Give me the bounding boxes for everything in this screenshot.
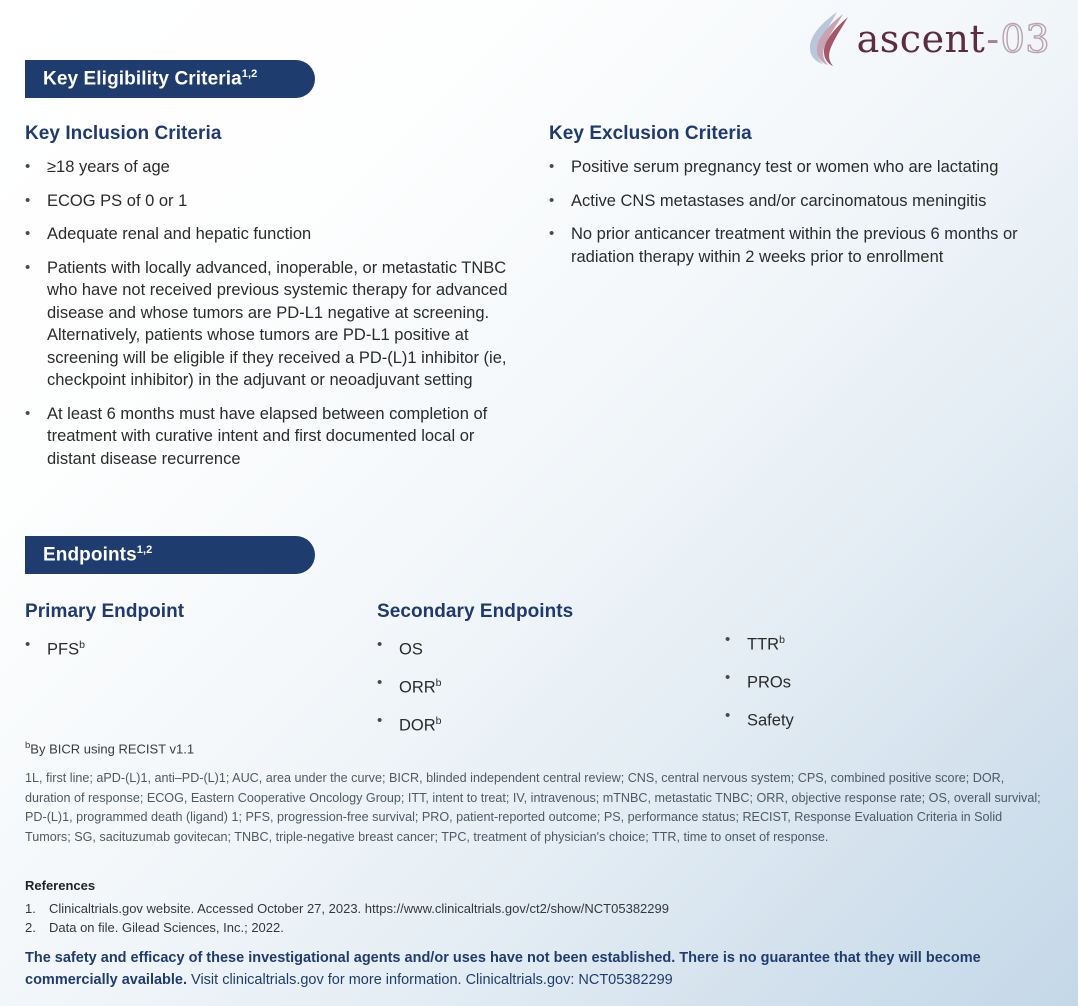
inclusion-heading: Key Inclusion Criteria [25,123,525,145]
list-item: •Patients with locally advanced, inopera… [25,257,525,392]
list-item: •At least 6 months must have elapsed bet… [25,403,525,471]
list-item-text: ≥18 years of age [47,156,525,179]
primary-endpoint-heading: Primary Endpoint [25,601,355,623]
list-item-text: Safety [747,705,1025,732]
exclusion-heading: Key Exclusion Criteria [549,123,1049,145]
bullet-dot-icon: • [377,672,399,699]
bullet-dot-icon: • [725,629,747,656]
bullet-dot-icon: • [25,257,47,392]
bullet-dot-icon: • [25,403,47,471]
list-item-text: OS [399,634,707,661]
bullet-dot-icon: • [377,634,399,661]
primary-endpoint-list: •PFSb [25,634,355,661]
list-item-text: TTRb [747,629,1025,656]
footnote-marker: b [79,639,85,651]
list-item-text: At least 6 months must have elapsed betw… [47,403,525,471]
section-banner-eligibility: Key Eligibility Criteria1,2 [25,60,315,98]
list-item: •DORb [377,710,707,737]
disclaimer-normal: Visit clinicaltrials.gov for more inform… [187,972,673,988]
list-item: •Adequate renal and hepatic function [25,223,525,246]
logo-word: ascent [857,17,986,61]
primary-endpoint-column: Primary Endpoint •PFSb [25,601,355,661]
list-item-text: ECOG PS of 0 or 1 [47,190,525,213]
list-item-text: Active CNS metastases and/or carcinomato… [571,190,1049,213]
bullet-dot-icon: • [725,705,747,732]
bullet-dot-icon: • [549,190,571,213]
secondary-endpoint-list: •OS •ORRb •DORb [377,634,707,737]
reference-text: Data on file. Gilead Sciences, Inc.; 202… [49,918,1045,937]
list-item: •PFSb [25,634,355,661]
list-item: •No prior anticancer treatment within th… [549,223,1049,268]
list-item: •≥18 years of age [25,156,525,179]
list-item-text: Patients with locally advanced, inoperab… [47,257,525,392]
reference-text: Clinicaltrials.gov website. Accessed Oct… [49,899,1045,918]
list-item: •TTRb [725,629,1025,656]
abbreviations-block: 1L, first line; aPD-(L)1, anti–PD-(L)1; … [25,769,1043,847]
secondary-endpoint-column: Secondary Endpoints •OS •ORRb •DORb [377,601,707,737]
bullet-dot-icon: • [25,190,47,213]
inclusion-list: •≥18 years of age •ECOG PS of 0 or 1 •Ad… [25,156,525,470]
reference-number: 1. [25,899,49,918]
secondary-endpoint-column-extra: •TTRb •PROs •Safety [725,629,1025,732]
exclusion-criteria-column: Key Exclusion Criteria •Positive serum p… [549,123,1049,268]
list-item-text: Adequate renal and hepatic function [47,223,525,246]
list-item: •ECOG PS of 0 or 1 [25,190,525,213]
logo-dash: - [985,17,1000,61]
banner-sup-eligibility: 1,2 [242,68,258,80]
bullet-dot-icon: • [25,156,47,179]
list-item-text: No prior anticancer treatment within the… [571,223,1049,268]
bullet-dot-icon: • [377,710,399,737]
bullet-dot-icon: • [25,223,47,246]
bullet-dot-icon: • [549,156,571,179]
reference-number: 2. [25,918,49,937]
footnote-marker: b [779,634,785,646]
list-item: •ORRb [377,672,707,699]
bullet-dot-icon: • [25,634,47,661]
logo-wordmark: ascent-03 [857,20,1050,58]
references-title: References [25,878,1045,893]
footnote-b-text: By BICR using RECIST v1.1 [30,741,194,756]
secondary-endpoint-heading: Secondary Endpoints [377,601,707,623]
list-item: •Positive serum pregnancy test or women … [549,156,1049,179]
flame-swoosh-icon [807,10,855,68]
brand-logo: ascent-03 [807,10,1050,68]
list-item-text: Positive serum pregnancy test or women w… [571,156,1049,179]
list-item: •OS [377,634,707,661]
list-item: 1.Clinicaltrials.gov website. Accessed O… [25,899,1045,918]
section-banner-endpoints: Endpoints1,2 [25,536,315,574]
disclaimer-block: The safety and efficacy of these investi… [25,948,1045,991]
references-block: References 1.Clinicaltrials.gov website.… [25,878,1045,937]
banner-label-eligibility: Key Eligibility Criteria1,2 [43,68,257,90]
secondary-endpoint-list-extra: •TTRb •PROs •Safety [725,629,1025,732]
bullet-dot-icon: • [549,223,571,268]
footnote-b: bBy BICR using RECIST v1.1 [25,737,1045,757]
footnote-marker: b [436,715,442,727]
list-item: 2.Data on file. Gilead Sciences, Inc.; 2… [25,918,1045,937]
list-item: •PROs [725,667,1025,694]
list-item: •Safety [725,705,1025,732]
list-item-text: DORb [399,710,707,737]
list-item-text: PROs [747,667,1025,694]
list-item-text: ORRb [399,672,707,699]
list-item-text: PFSb [47,634,355,661]
inclusion-criteria-column: Key Inclusion Criteria •≥18 years of age… [25,123,525,470]
bullet-dot-icon: • [725,667,747,694]
banner-label-endpoints: Endpoints1,2 [43,544,152,566]
list-item: •Active CNS metastases and/or carcinomat… [549,190,1049,213]
footnote-marker: b [436,677,442,689]
references-list: 1.Clinicaltrials.gov website. Accessed O… [25,899,1045,937]
banner-sup-endpoints: 1,2 [137,544,153,556]
logo-number: 03 [1001,17,1050,61]
exclusion-list: •Positive serum pregnancy test or women … [549,156,1049,268]
